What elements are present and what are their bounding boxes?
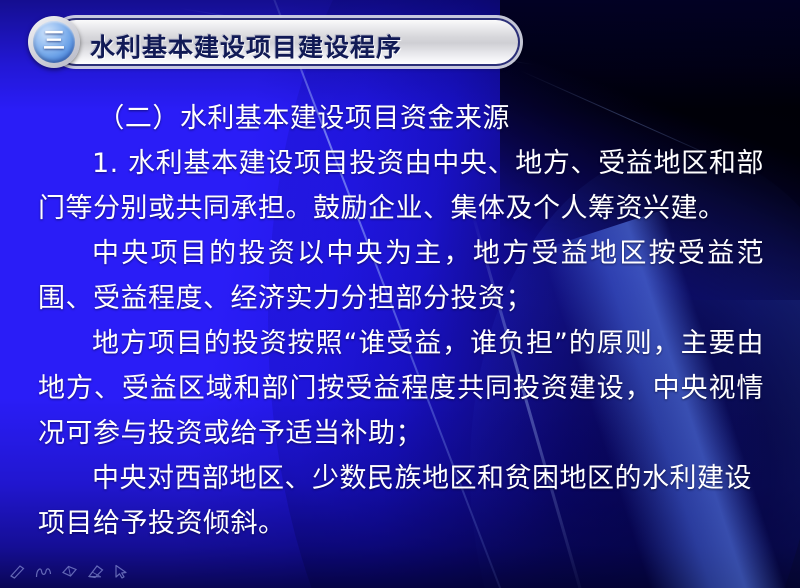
body-paragraph-3: 地方项目的投资按照“谁受益，谁负担”的原则，主要由地方、受益区域和部门按受益程度… xyxy=(38,321,764,456)
slide-header: 水利基本建设项目建设程序 三 xyxy=(0,16,540,68)
slide-body: （二）水利基本建设项目资金来源 1. 水利基本建设项目投资由中央、地方、受益地区… xyxy=(38,96,764,546)
slide-title: 水利基本建设项目建设程序 xyxy=(90,28,402,64)
body-paragraph-4: 中央对西部地区、少数民族地区和贫困地区的水利建设项目给予投资倾斜。 xyxy=(38,456,764,546)
presentation-slide: 水利基本建设项目建设程序 三 （二）水利基本建设项目资金来源 1. 水利基本建设… xyxy=(0,0,800,588)
eraser-icon[interactable] xyxy=(86,563,105,580)
chapter-badge-inner: 三 xyxy=(33,21,75,63)
squiggle-pen-icon[interactable] xyxy=(34,563,53,580)
body-paragraph-1: 1. 水利基本建设项目投资由中央、地方、受益地区和部门等分别或共同承担。鼓励企业… xyxy=(38,141,764,231)
body-paragraph-2: 中央项目的投资以中央为主，地方受益地区按受益范围、受益程度、经济实力分担部分投资… xyxy=(38,231,764,321)
pen-icon[interactable] xyxy=(8,563,27,580)
annotation-toolbar[interactable] xyxy=(8,563,131,580)
chapter-badge: 三 xyxy=(28,16,80,68)
highlighter-icon[interactable] xyxy=(60,563,79,580)
body-paragraph-heading: （二）水利基本建设项目资金来源 xyxy=(38,96,764,141)
chapter-three-badge-icon: 三 xyxy=(33,21,75,63)
pointer-arrow-icon[interactable] xyxy=(112,563,131,580)
